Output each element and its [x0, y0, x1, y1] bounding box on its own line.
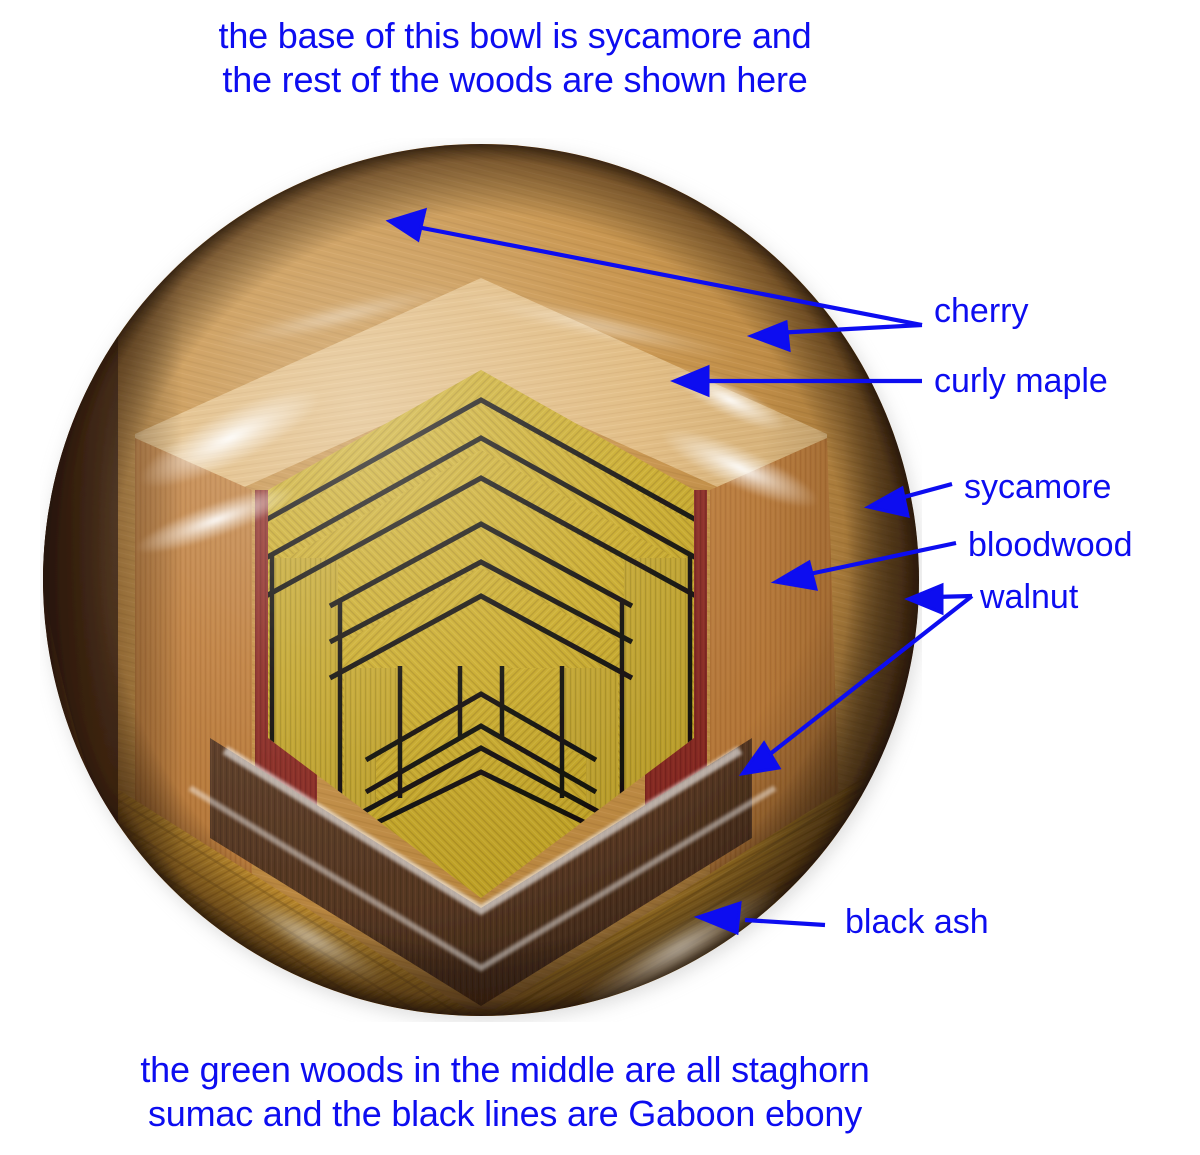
right-shadow — [692, 138, 922, 1022]
bowl-body — [40, 138, 922, 1022]
callout-label-sycamore: sycamore — [964, 470, 1111, 504]
callout-label-bloodwood: bloodwood — [968, 528, 1132, 562]
callout-label-cherry: cherry — [934, 294, 1028, 328]
screenshot-canvas: the base of this bowl is sycamore and th… — [0, 0, 1200, 1155]
callout-label-black-ash: black ash — [845, 905, 989, 939]
top-caption: the base of this bowl is sycamore and th… — [60, 14, 970, 102]
segmented-bowl-photo — [40, 138, 922, 1022]
callout-label-walnut: walnut — [980, 580, 1078, 614]
left-shadow — [40, 138, 270, 1022]
bottom-caption: the green woods in the middle are all st… — [45, 1048, 965, 1136]
callout-label-curly-maple: curly maple — [934, 364, 1108, 398]
